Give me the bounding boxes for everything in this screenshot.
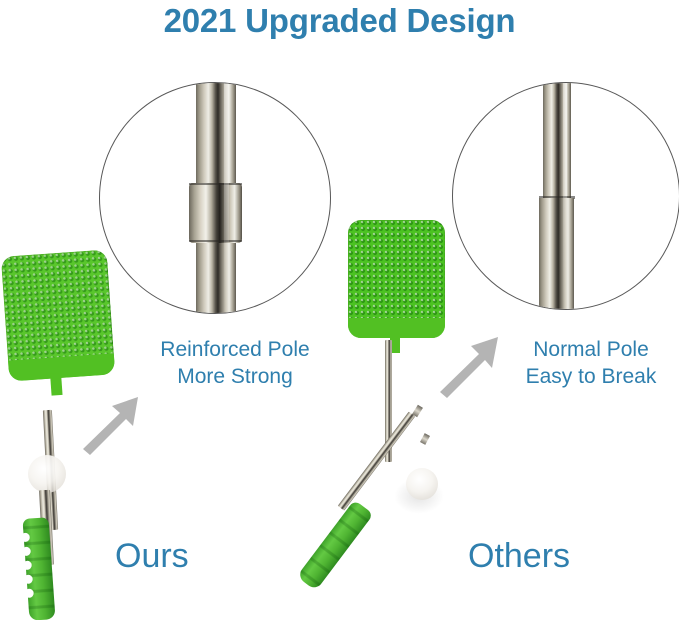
gray-arrow-up-right-right-side <box>434 332 504 402</box>
normal-pole-lower-segment <box>539 198 574 310</box>
detached-lower-assembly-others <box>388 406 508 536</box>
page-title: 2021 Upgraded Design <box>0 2 679 40</box>
mesh-panel <box>1 249 115 381</box>
grip-handle-others <box>297 500 374 591</box>
gray-arrow-up-right-left-side <box>78 392 144 458</box>
caption-ours-line2: More Strong <box>128 363 342 390</box>
mesh-panel <box>348 220 445 338</box>
caption-others: Normal Pole Easy to Break <box>498 336 679 390</box>
grip-body <box>297 500 374 591</box>
swatter-head-others <box>348 220 445 338</box>
collar-bottom-seam <box>189 240 242 242</box>
head-neck <box>50 373 63 396</box>
reinforcing-collar <box>189 183 242 243</box>
normal-pole-highlight <box>563 82 567 310</box>
product-comparison-infographic: 2021 Upgraded Design <box>0 0 679 620</box>
grip-ribs <box>297 500 374 591</box>
label-ours: Ours <box>115 537 189 576</box>
label-others: Others <box>468 537 570 576</box>
pole-top-rim <box>196 82 236 83</box>
caption-others-line1: Normal Pole <box>533 338 649 361</box>
swatter-head-ours <box>1 249 115 381</box>
caption-ours-line1: Reinforced Pole <box>160 338 309 361</box>
suction-cup-disc-ours <box>28 455 66 493</box>
caption-others-line2: Easy to Break <box>498 363 679 390</box>
collar-top-seam <box>189 183 242 185</box>
pole-highlight <box>224 82 229 314</box>
suction-cup-disc-others <box>406 468 438 500</box>
lens-reinforced-pole <box>99 82 331 314</box>
caption-ours: Reinforced Pole More Strong <box>128 336 342 390</box>
